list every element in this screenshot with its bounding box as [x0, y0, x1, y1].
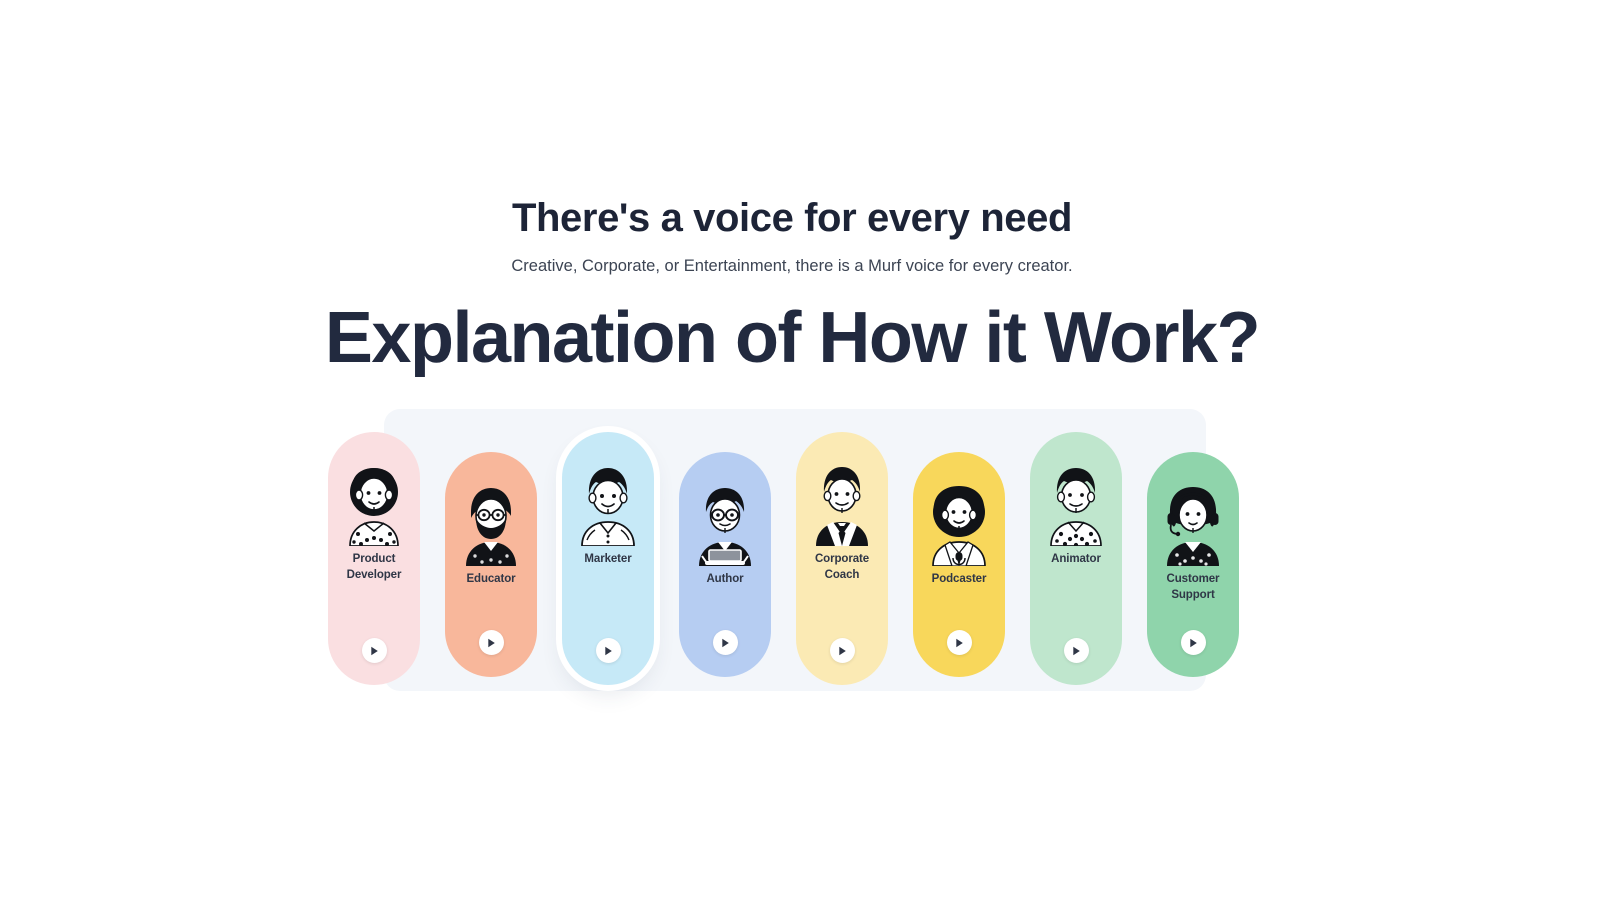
persona-card-marketer[interactable]: Marketer — [562, 432, 654, 685]
avatar — [337, 462, 411, 546]
persona-label: Marketer — [564, 552, 652, 568]
persona-card-list: Product Developer Educator — [328, 425, 1258, 695]
avatar — [922, 482, 996, 566]
avatar — [1039, 462, 1113, 546]
persona-label: Podcaster — [915, 572, 1003, 588]
persona-label: Educator — [447, 572, 535, 588]
avatar — [688, 482, 762, 566]
persona-label: Author — [681, 572, 769, 588]
play-icon[interactable] — [1181, 630, 1206, 655]
play-icon[interactable] — [1064, 638, 1089, 663]
avatar — [454, 482, 528, 566]
persona-card-product-developer[interactable]: Product Developer — [328, 432, 420, 685]
section-eyebrow-subtitle: Creative, Corporate, or Entertainment, t… — [0, 256, 1584, 277]
persona-label: Customer Support — [1149, 572, 1237, 603]
avatar — [571, 462, 645, 546]
play-icon[interactable] — [362, 638, 387, 663]
play-icon[interactable] — [479, 630, 504, 655]
play-icon[interactable] — [713, 630, 738, 655]
page-root: There's a voice for every need Creative,… — [0, 0, 1600, 900]
avatar — [1156, 482, 1230, 566]
persona-card-customer-support[interactable]: Customer Support — [1147, 452, 1239, 677]
page-title: Explanation of How it Work? — [0, 298, 1584, 379]
persona-card-corporate-coach[interactable]: Corporate Coach — [796, 432, 888, 685]
play-icon[interactable] — [947, 630, 972, 655]
play-icon[interactable] — [830, 638, 855, 663]
section-eyebrow-title: There's a voice for every need — [0, 196, 1584, 240]
persona-card-animator[interactable]: Animator — [1030, 432, 1122, 685]
persona-label: Corporate Coach — [798, 552, 886, 583]
persona-card-podcaster[interactable]: Podcaster — [913, 452, 1005, 677]
persona-card-author[interactable]: Author — [679, 452, 771, 677]
play-icon[interactable] — [596, 638, 621, 663]
persona-label: Product Developer — [330, 552, 418, 583]
persona-label: Animator — [1032, 552, 1120, 568]
avatar — [805, 462, 879, 546]
persona-card-educator[interactable]: Educator — [445, 452, 537, 677]
